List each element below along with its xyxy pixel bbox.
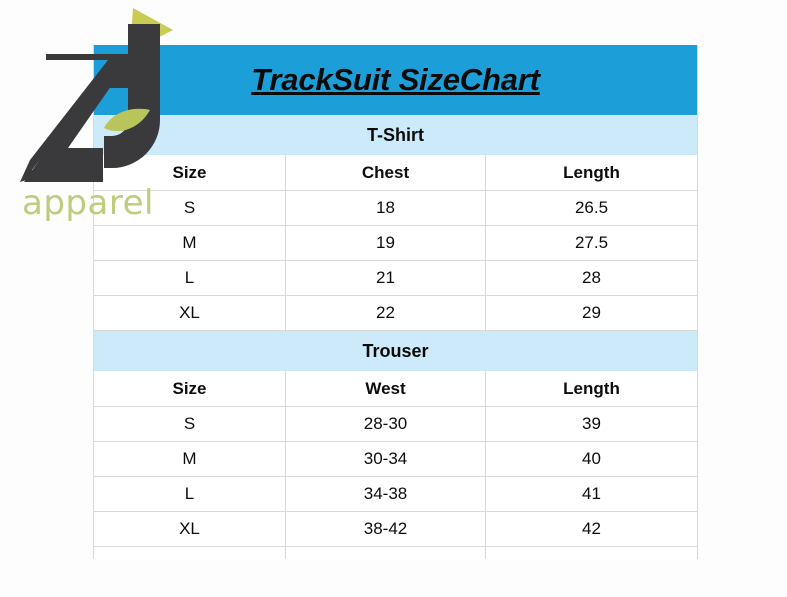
table-row: S 28-30 39	[94, 407, 698, 442]
table-row: L 21 28	[94, 261, 698, 296]
cell-length: 41	[486, 477, 698, 512]
cell-size: L	[94, 261, 286, 296]
size-chart-page: TrackSuit SizeChart T-Shirt Size Chest L…	[0, 0, 787, 597]
stub-cell-mid	[286, 547, 486, 560]
table-row: XL 22 29	[94, 296, 698, 331]
cell-west: 28-30	[286, 407, 486, 442]
cell-chest: 18	[286, 191, 486, 226]
column-header-length-trouser: Length	[486, 371, 698, 407]
section-header-row-trouser: Trouser	[94, 331, 698, 372]
section-title-cell-tshirt: T-Shirt	[94, 115, 698, 155]
section-title-tshirt: T-Shirt	[367, 125, 424, 145]
cell-size: M	[94, 226, 286, 261]
column-header-chest-tshirt: Chest	[286, 155, 486, 191]
cell-chest: 22	[286, 296, 486, 331]
cell-west: 34-38	[286, 477, 486, 512]
column-header-length-tshirt: Length	[486, 155, 698, 191]
table-row: S 18 26.5	[94, 191, 698, 226]
size-chart-table: TrackSuit SizeChart T-Shirt Size Chest L…	[93, 45, 698, 559]
cell-length: 26.5	[486, 191, 698, 226]
cell-length: 42	[486, 512, 698, 547]
table-row: L 34-38 41	[94, 477, 698, 512]
stub-cell-size	[94, 547, 286, 560]
cell-size: M	[94, 442, 286, 477]
cell-chest: 19	[286, 226, 486, 261]
table-row: M 30-34 40	[94, 442, 698, 477]
column-header-row-tshirt: Size Chest Length	[94, 155, 698, 191]
column-header-west-trouser: West	[286, 371, 486, 407]
section-header-row-tshirt: T-Shirt	[94, 115, 698, 155]
size-chart-body: TrackSuit SizeChart T-Shirt Size Chest L…	[94, 45, 698, 559]
cell-chest: 21	[286, 261, 486, 296]
cell-size: S	[94, 191, 286, 226]
cell-size: S	[94, 407, 286, 442]
cell-size: XL	[94, 296, 286, 331]
cell-west: 30-34	[286, 442, 486, 477]
column-header-size-trouser: Size	[94, 371, 286, 407]
section-title-cell-trouser: Trouser	[94, 331, 698, 372]
cell-length: 29	[486, 296, 698, 331]
section-title-trouser: Trouser	[362, 341, 428, 361]
cell-size: L	[94, 477, 286, 512]
cell-length: 39	[486, 407, 698, 442]
table-row: M 19 27.5	[94, 226, 698, 261]
chart-title-row: TrackSuit SizeChart	[94, 45, 698, 115]
cell-length: 28	[486, 261, 698, 296]
column-header-size-tshirt: Size	[94, 155, 286, 191]
page-title: TrackSuit SizeChart	[251, 62, 540, 97]
table-row: XL 38-42 42	[94, 512, 698, 547]
stub-cell-length	[486, 547, 698, 560]
column-header-row-trouser: Size West Length	[94, 371, 698, 407]
cell-west: 38-42	[286, 512, 486, 547]
cell-size: XL	[94, 512, 286, 547]
table-row-stub	[94, 547, 698, 560]
cell-length: 27.5	[486, 226, 698, 261]
chart-title-cell: TrackSuit SizeChart	[94, 45, 698, 115]
cell-length: 40	[486, 442, 698, 477]
